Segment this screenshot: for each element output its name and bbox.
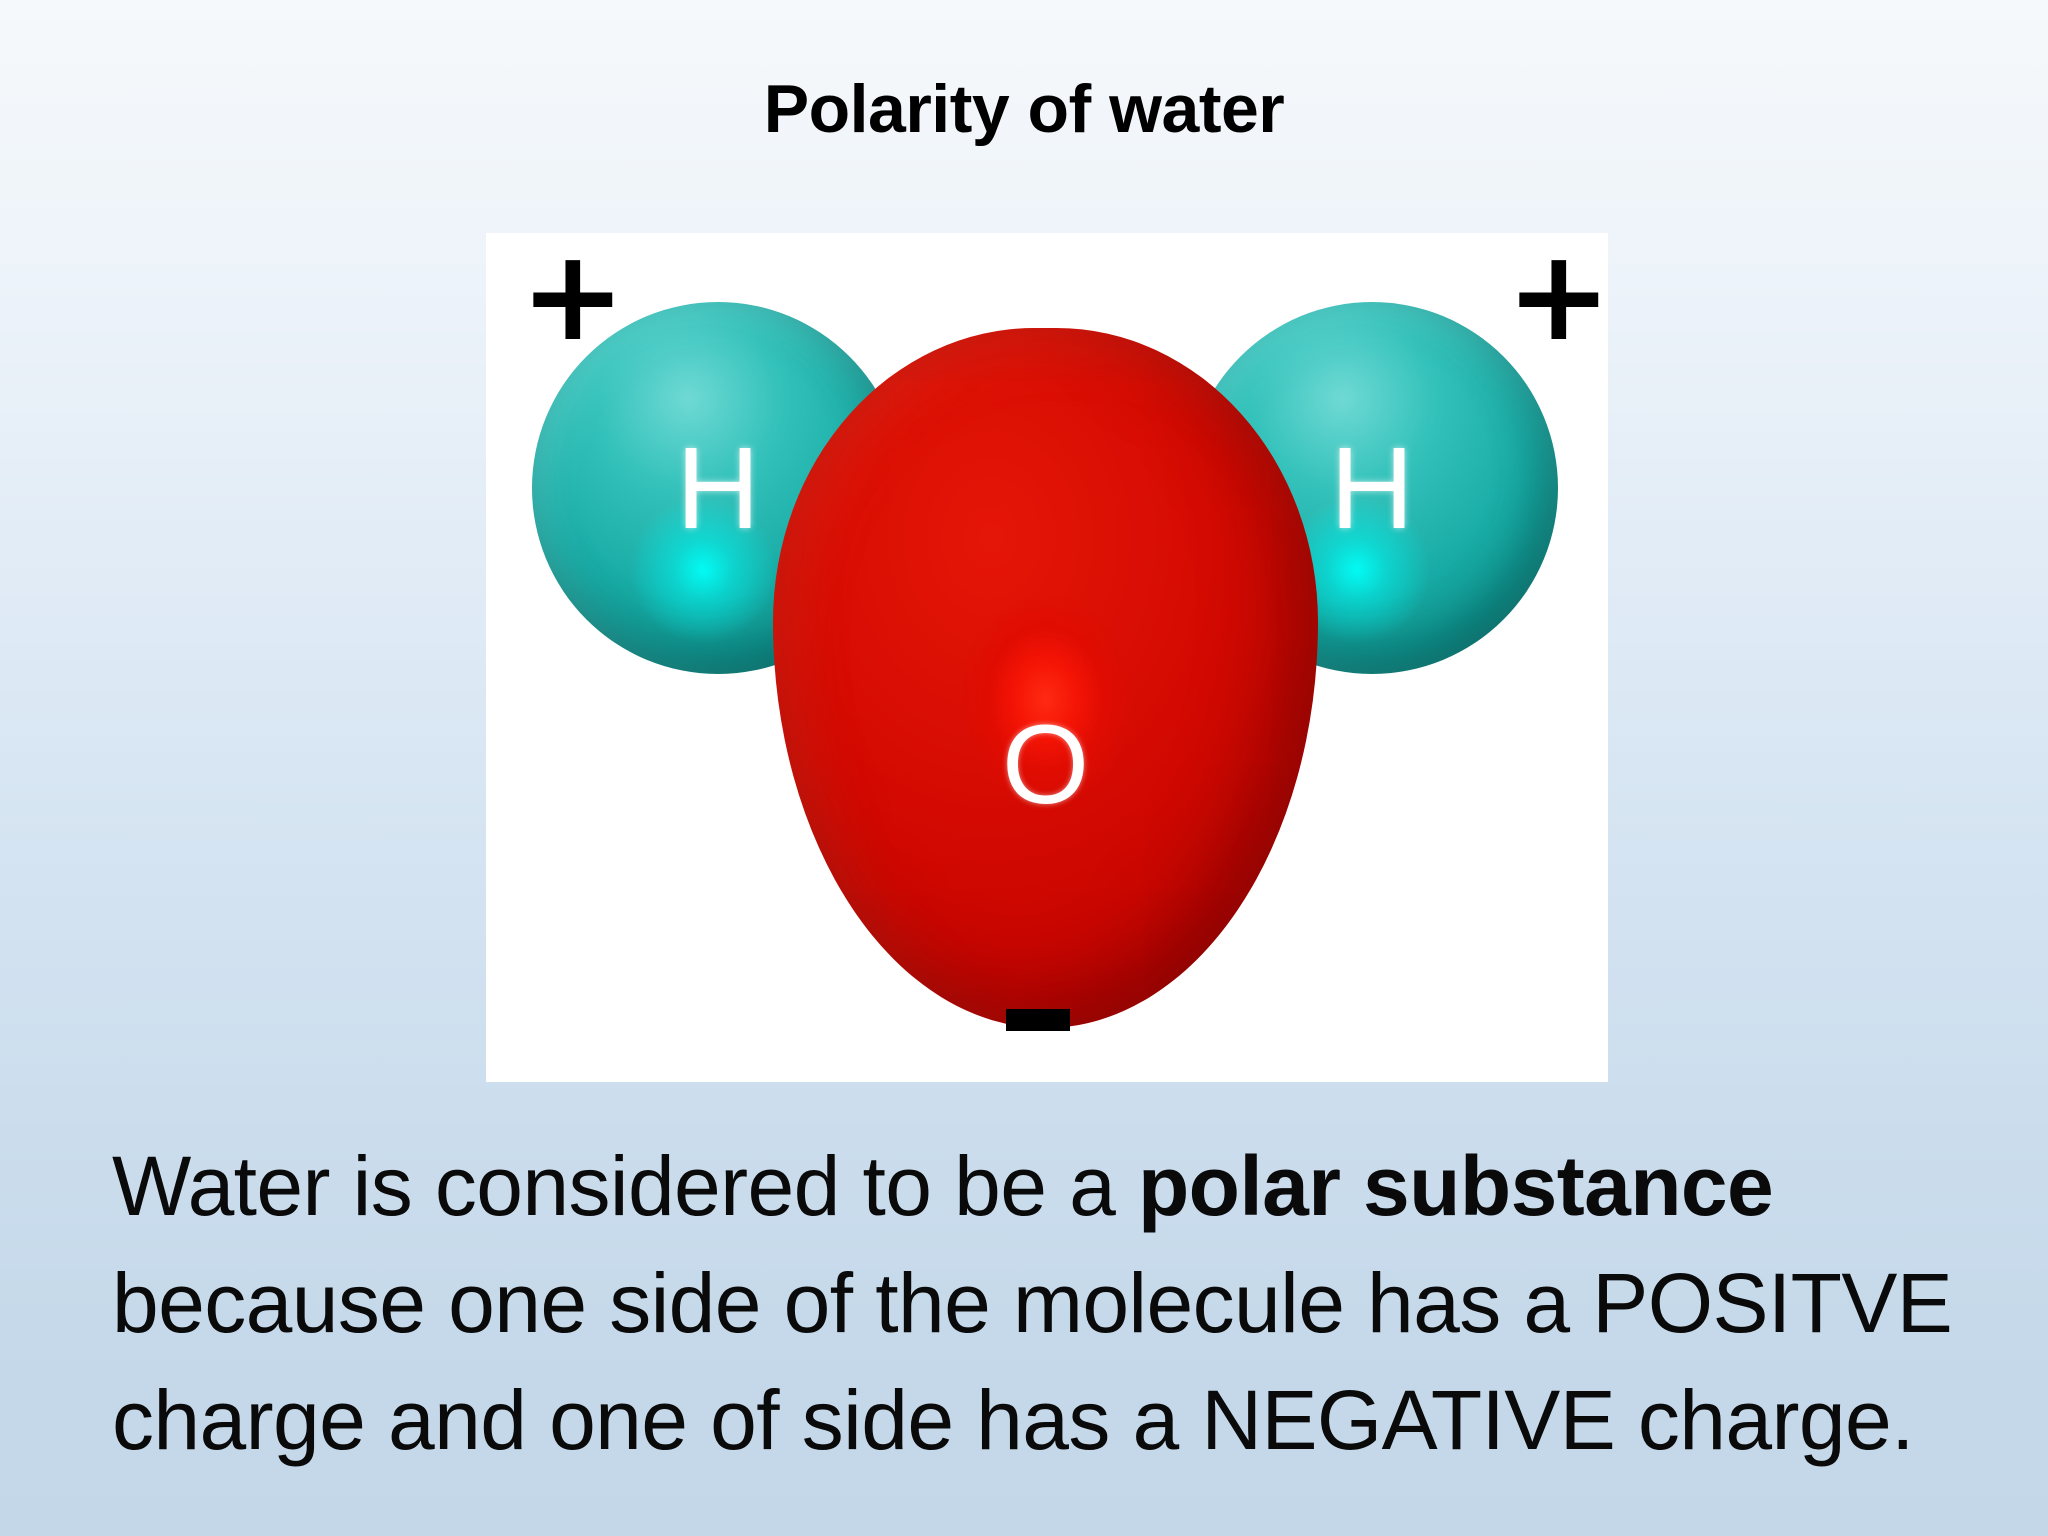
negative-charge-icon xyxy=(1006,1009,1070,1031)
slide: Polarity of water + + H H O Water is con… xyxy=(0,0,2048,1536)
body-text-emphasis-polar-substance: polar substance xyxy=(1138,1139,1773,1233)
body-text-line-3: charge and one of side has a NEGATIVE ch… xyxy=(112,1362,1982,1479)
page-title: Polarity of water xyxy=(0,72,2048,147)
water-molecule-image-panel: + + H H O xyxy=(486,233,1608,1082)
body-text: Water is considered to be a polar substa… xyxy=(112,1128,1982,1478)
body-text-line-1-plain: Water is considered to be a xyxy=(112,1139,1138,1233)
body-text-line-2: because one side of the molecule has a P… xyxy=(112,1245,1982,1362)
molecule-stage: + + H H O xyxy=(486,233,1608,1082)
oxygen-label: O xyxy=(773,328,1318,1028)
body-text-line-1: Water is considered to be a polar substa… xyxy=(112,1128,1982,1245)
oxygen-atom: O xyxy=(773,328,1318,1028)
